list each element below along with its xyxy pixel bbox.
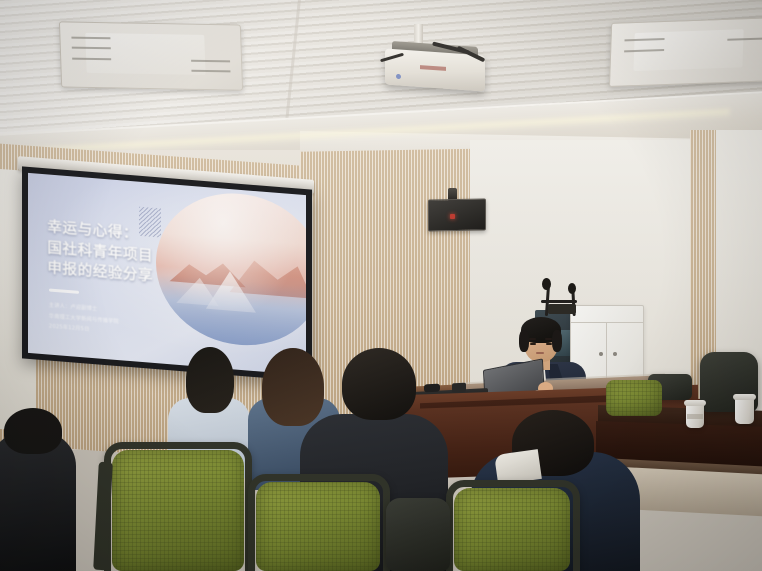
- speaker-led-icon: [450, 214, 455, 219]
- coffee-cup-1-sleeve: [687, 414, 703, 419]
- coffee-cup-2-lid: [733, 394, 756, 400]
- presenter-eyebrow-left: [529, 338, 536, 340]
- presenter-eye-left: [530, 343, 536, 345]
- presenter-eyebrow-right: [545, 338, 552, 340]
- wall-speaker-icon: [428, 198, 486, 231]
- presenter-hair-side-right: [552, 330, 562, 352]
- gooseneck-mic-left-head: [542, 278, 551, 290]
- ac-cassette-right-icon: [609, 17, 762, 87]
- gooseneck-mic-right-head: [568, 283, 576, 294]
- presenter-mouth: [536, 352, 544, 354]
- console-module-a: [424, 384, 440, 393]
- chair-dark-center[interactable]: [386, 498, 450, 571]
- ac-cassette-left-icon: [59, 21, 243, 90]
- cabinet-seam: [571, 322, 643, 323]
- chair-left-frame: [104, 442, 252, 571]
- presenter-hair-side-left: [519, 330, 529, 352]
- ac-diffuser-panel: [85, 33, 205, 75]
- ac-vane: [72, 47, 112, 50]
- presenter-eye-right: [546, 343, 552, 345]
- mic-base-bar: [541, 300, 577, 303]
- cabinet-knob: [613, 352, 617, 356]
- chair-green-right[interactable]: [606, 380, 662, 416]
- mic-base-unit: [548, 304, 576, 314]
- projection-screen-frame: 幸运与心得： 国社科青年项目 申报的经验分享 主讲人：卢迎副博士 华南理工大学新…: [22, 166, 312, 381]
- coffee-cup-1-lid: [684, 400, 706, 406]
- ac-vane: [72, 57, 112, 60]
- audience-1-hair: [186, 347, 234, 413]
- cabinet-knob: [599, 352, 603, 356]
- ac-vane: [71, 37, 111, 40]
- audience-2-hair: [262, 348, 324, 426]
- projector-led-icon: [396, 74, 401, 79]
- audience-5-hair: [4, 408, 62, 454]
- chair-right-frame: [446, 480, 580, 571]
- projection-screen-surface: 幸运与心得： 国社科青年项目 申报的经验分享 主讲人：卢迎副博士 华南理工大学新…: [28, 173, 306, 375]
- chair-center-frame: [248, 474, 390, 571]
- ac-vane: [727, 37, 762, 40]
- console-module-b: [452, 383, 466, 393]
- coffee-cup-2[interactable]: [735, 398, 754, 424]
- audience-3-hair: [342, 348, 416, 420]
- seminar-room-photo: 幸运与心得： 国社科青年项目 申报的经验分享 主讲人：卢迎副博士 华南理工大学新…: [0, 0, 762, 571]
